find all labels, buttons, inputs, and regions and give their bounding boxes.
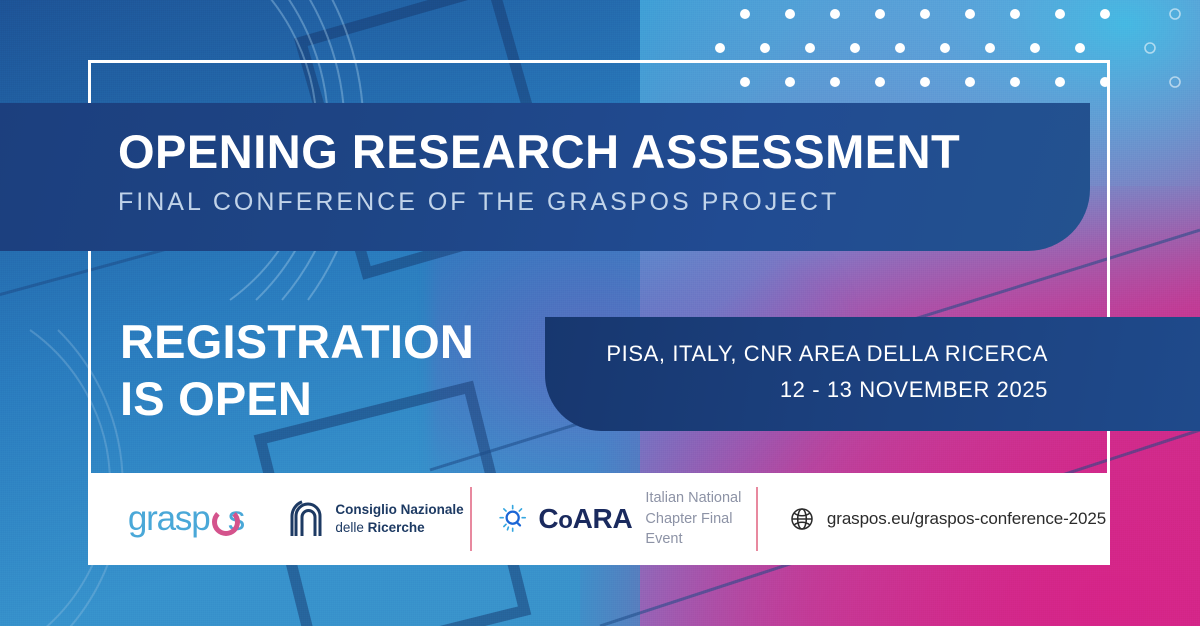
coara-sub-line-2: Chapter Final Event <box>645 509 756 551</box>
coara-wordmark: CoARA <box>538 503 632 535</box>
website-link[interactable]: graspos.eu/graspos-conference-2025 <box>758 473 1110 565</box>
coara-ara: ARA <box>573 503 633 534</box>
globe-icon <box>790 507 814 531</box>
page-subtitle: FINAL CONFERENCE OF THE GRASPOS PROJECT <box>118 188 1050 217</box>
coara-subtitle: Italian National Chapter Final Event <box>645 488 756 551</box>
coara-sun-icon <box>498 502 527 536</box>
cnr-logo: Consiglio Nazionale delle Ricerche <box>284 473 470 565</box>
headline-line-2: IS OPEN <box>120 370 474 427</box>
url-text: graspos.eu/graspos-conference-2025 <box>827 509 1106 529</box>
cnr-line-2-thin: delle <box>335 520 367 535</box>
graspos-pink-o-icon: o <box>209 499 227 538</box>
headline-line-1: REGISTRATION <box>120 313 474 370</box>
dates-text: 12 - 13 NOVEMBER 2025 <box>545 372 1048 408</box>
venue-date-panel: PISA, ITALY, CNR AREA DELLA RICERCA 12 -… <box>545 317 1200 431</box>
coara-c: C <box>538 503 558 534</box>
coara-logo: CoARA Italian National Chapter Final Eve… <box>472 473 756 565</box>
cnr-line-2-bold: Ricerche <box>368 520 425 535</box>
venue-text: PISA, ITALY, CNR AREA DELLA RICERCA <box>545 336 1048 372</box>
registration-headline: REGISTRATION IS OPEN <box>120 313 474 428</box>
cnr-line-2: delle Ricerche <box>335 519 463 537</box>
coara-o: o <box>558 507 572 534</box>
page-title: OPENING RESEARCH ASSESSMENT <box>118 127 1050 177</box>
title-band: OPENING RESEARCH ASSESSMENT FINAL CONFER… <box>0 103 1090 251</box>
graspos-text-before: grasp <box>128 499 210 538</box>
coara-sub-line-1: Italian National <box>645 488 756 509</box>
cnr-line-1: Consiglio Nazionale <box>335 501 463 519</box>
cnr-text: Consiglio Nazionale delle Ricerche <box>335 501 463 537</box>
graspos-logo: graspos <box>88 473 284 565</box>
conference-promo-banner: OPENING RESEARCH ASSESSMENT FINAL CONFER… <box>0 0 1200 626</box>
logo-bar: graspos Consiglio Nazionale delle Ricerc… <box>88 473 1110 565</box>
cnr-mark-icon <box>290 500 326 538</box>
graspos-wordmark: graspos <box>128 499 244 539</box>
